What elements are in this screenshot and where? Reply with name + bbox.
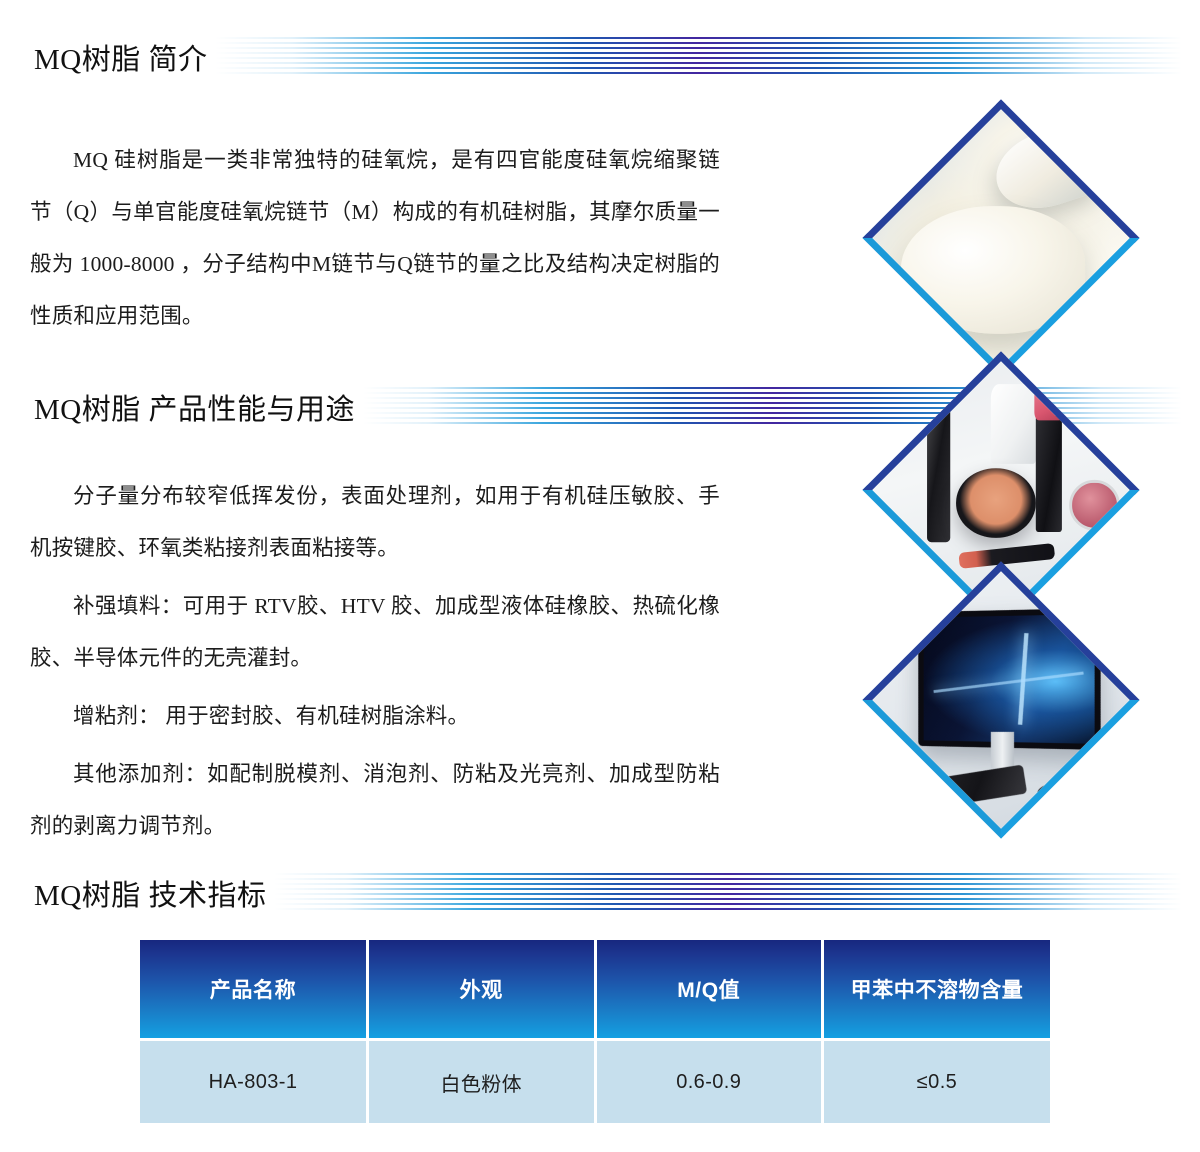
monitor-screen-shape xyxy=(918,608,1101,750)
table-col-mq-value: M/Q值 xyxy=(595,940,823,1040)
performance-paragraph-4: 其他添加剂：如配制脱模剂、消泡剂、防粘及光亮剂、加成型防粘剂的剥离力调节剂。 xyxy=(30,748,720,852)
performance-paragraph-1: 分子量分布较窄低挥发份，表面处理剂，如用于有机硅压敏胶、手机按键胶、环氧类粘接剂… xyxy=(30,470,720,574)
table-cell-mq-value: 0.6-0.9 xyxy=(595,1040,823,1124)
heading-stripes-decoration xyxy=(274,872,1182,914)
section-heading-specs: MQ树脂 技术指标 xyxy=(34,868,1182,918)
performance-paragraph-2: 补强填料：可用于 RTV胶、HTV 胶、加成型液体硅橡胶、热硫化橡胶、半导体元件… xyxy=(30,580,720,684)
cosmetic-bottle-shape xyxy=(990,384,1035,463)
monitor-image-content xyxy=(869,568,1133,832)
section-title-intro: MQ树脂 简介 xyxy=(34,36,213,78)
cream-tube-illustration xyxy=(869,106,1133,370)
table-header-row: 产品名称 外观 M/Q值 甲苯中不溶物含量 xyxy=(140,940,1050,1040)
keyboard-shape xyxy=(902,765,1026,813)
table-col-appearance: 外观 xyxy=(368,940,596,1040)
blush-jar-shape xyxy=(1070,479,1121,530)
section-heading-intro: MQ树脂 简介 xyxy=(34,32,1182,82)
table-cell-toluene-insoluble: ≤0.5 xyxy=(823,1040,1051,1124)
monitor-illustration xyxy=(869,568,1133,832)
mouse-shape xyxy=(1037,782,1066,802)
performance-body: 分子量分布较窄低挥发份，表面处理剂，如用于有机硅压敏胶、手机按键胶、环氧类粘接剂… xyxy=(30,470,720,858)
table-row: HA-803-1 白色粉体 0.6-0.9 ≤0.5 xyxy=(140,1040,1050,1124)
performance-paragraph-3: 增粘剂： 用于密封胶、有机硅树脂涂料。 xyxy=(30,690,720,742)
eyeliner-pencil-shape xyxy=(927,400,951,542)
section-title-specs: MQ树脂 技术指标 xyxy=(34,872,272,914)
lip-brush-shape xyxy=(958,543,1054,569)
section-title-performance: MQ树脂 产品性能与用途 xyxy=(34,386,361,428)
table-col-toluene-insoluble: 甲苯中不溶物含量 xyxy=(823,940,1051,1040)
table-col-product-name: 产品名称 xyxy=(140,940,368,1040)
cream-tube-image-content xyxy=(869,106,1133,370)
spec-table: 产品名称 外观 M/Q值 甲苯中不溶物含量 HA-803-1 白色粉体 0.6-… xyxy=(140,940,1050,1123)
table-cell-product-name: HA-803-1 xyxy=(140,1040,368,1124)
intro-body: MQ 硅树脂是一类非常独特的硅氧烷，是有四官能度硅氧烷缩聚链节（Q）与单官能度硅… xyxy=(30,134,720,348)
intro-paragraph-1: MQ 硅树脂是一类非常独特的硅氧烷，是有四官能度硅氧烷缩聚链节（Q）与单官能度硅… xyxy=(30,134,720,342)
powder-compact-shape xyxy=(956,469,1035,538)
table-cell-appearance: 白色粉体 xyxy=(368,1040,596,1124)
cream-tube-photo xyxy=(862,99,1139,376)
lipstick-shape xyxy=(1035,416,1061,532)
desktop-monitor-photo xyxy=(862,561,1139,838)
heading-stripes-decoration xyxy=(215,36,1182,78)
monitor-stand-shape xyxy=(990,732,1014,769)
